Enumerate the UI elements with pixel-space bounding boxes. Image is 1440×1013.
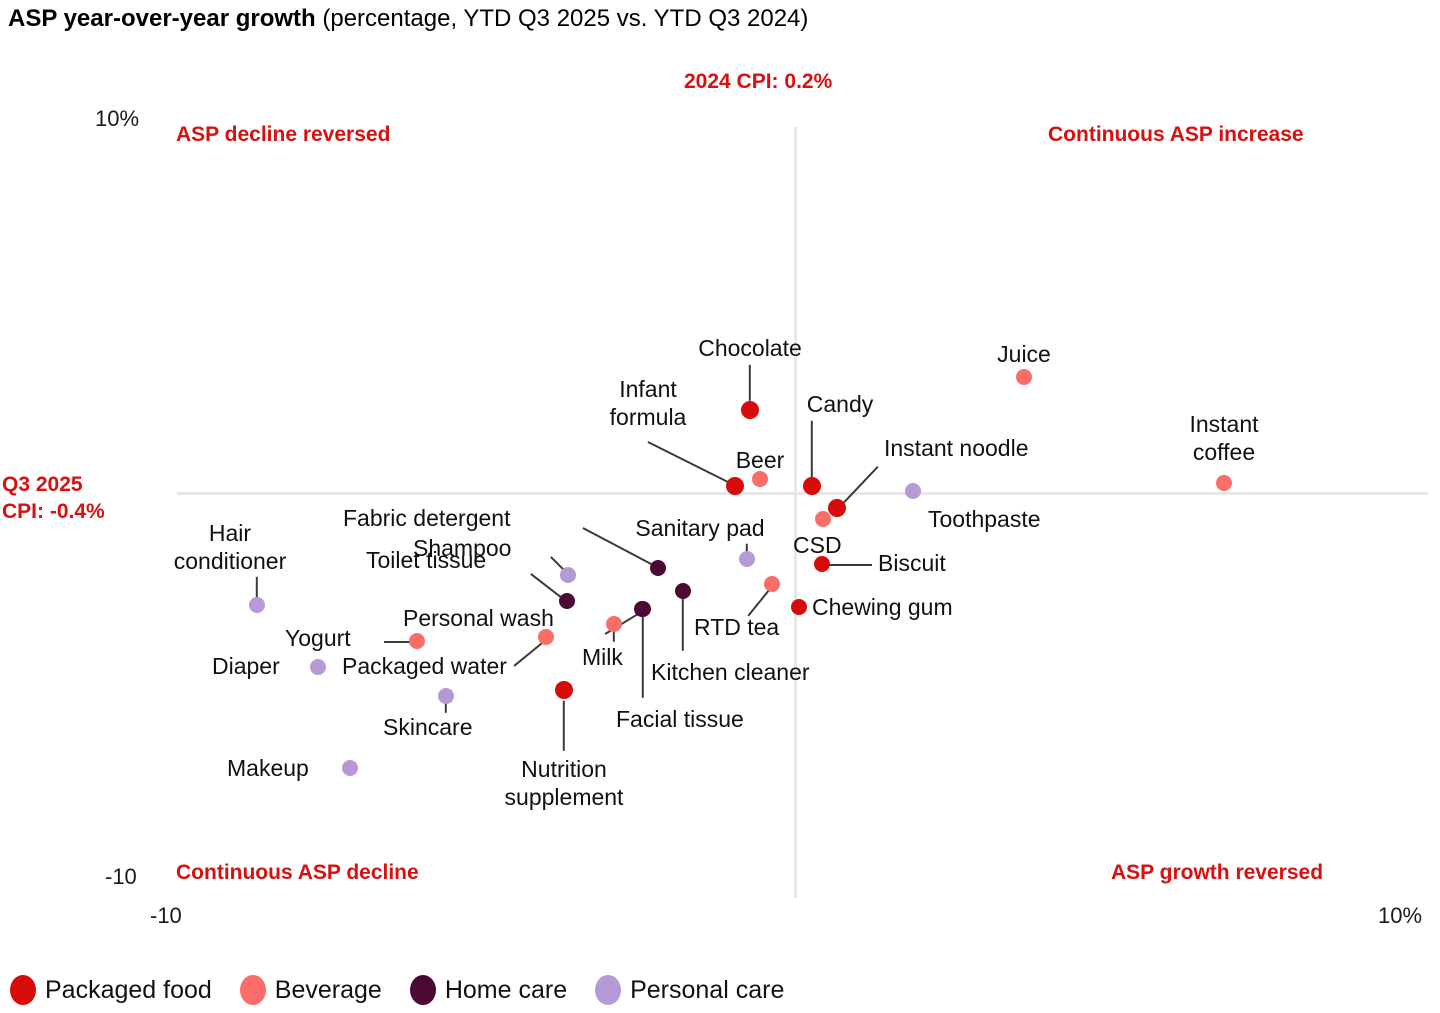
data-point-facial-tissue[interactable] bbox=[635, 601, 651, 617]
leader-line-infant-formula bbox=[648, 441, 731, 483]
x-axis-tick-left: -10 bbox=[150, 903, 182, 929]
data-label-instant-coffee: Instantcoffee bbox=[1189, 410, 1258, 466]
y-axis-tick-bottom: -10 bbox=[105, 864, 137, 890]
data-label-facial-tissue: Facial tissue bbox=[616, 705, 744, 733]
legend-swatch-home-icon bbox=[410, 975, 436, 1005]
data-point-rtd-tea[interactable] bbox=[764, 576, 780, 592]
data-label-csd: CSD bbox=[793, 531, 842, 559]
data-point-instant-noodle[interactable] bbox=[828, 499, 846, 517]
data-point-kitchen-cleaner[interactable] bbox=[675, 583, 691, 599]
data-point-chocolate[interactable] bbox=[741, 401, 759, 419]
leader-line-facial-tissue bbox=[642, 616, 644, 698]
data-point-candy[interactable] bbox=[803, 477, 821, 495]
leader-line-instant-noodle bbox=[841, 466, 878, 505]
legend-swatch-bev-icon bbox=[240, 975, 266, 1005]
data-point-biscuit[interactable] bbox=[814, 556, 830, 572]
y-axis-tick-top: 10% bbox=[95, 106, 139, 132]
legend-label-food: Packaged food bbox=[45, 976, 212, 1005]
legend-item-pers[interactable]: Personal care bbox=[595, 975, 784, 1005]
data-point-toilet-tissue[interactable] bbox=[559, 593, 575, 609]
data-point-hair-conditioner[interactable] bbox=[249, 597, 265, 613]
data-label-toilet-tissue: Toilet tissue bbox=[366, 546, 486, 574]
quadrant-label-bottom-left: Continuous ASP decline bbox=[176, 861, 419, 885]
data-label-hair-conditioner: Hairconditioner bbox=[174, 519, 287, 575]
data-label-personal-wash: Personal wash bbox=[403, 604, 554, 632]
data-point-packaged-water[interactable] bbox=[538, 629, 554, 645]
legend-swatch-pers-icon bbox=[595, 975, 621, 1005]
leader-line-nutrition-supplement bbox=[563, 701, 565, 751]
vertical-axis-line bbox=[794, 127, 797, 898]
leader-line-chocolate bbox=[749, 365, 751, 401]
data-label-fabric-detergent: Fabric detergent bbox=[343, 504, 510, 532]
data-point-juice[interactable] bbox=[1016, 369, 1032, 385]
cpi-q3-2025-line1: Q3 2025 bbox=[2, 471, 105, 498]
data-label-candy: Candy bbox=[807, 390, 873, 418]
data-point-makeup[interactable] bbox=[342, 760, 358, 776]
legend-item-bev[interactable]: Beverage bbox=[240, 975, 382, 1005]
data-point-yogurt[interactable] bbox=[409, 633, 425, 649]
data-point-milk[interactable] bbox=[606, 616, 622, 632]
data-label-nutrition-supplement: Nutritionsupplement bbox=[505, 755, 624, 811]
data-point-toothpaste[interactable] bbox=[905, 483, 921, 499]
leader-line-packaged-water bbox=[513, 642, 542, 666]
data-label-instant-noodle: Instant noodle bbox=[884, 434, 1029, 462]
data-point-sanitary-pad[interactable] bbox=[739, 551, 755, 567]
quadrant-label-top-left: ASP decline reversed bbox=[176, 123, 390, 147]
data-label-diaper: Diaper bbox=[212, 652, 280, 680]
page-title: ASP year-over-year growth (percentage, Y… bbox=[8, 4, 808, 34]
data-label-chewing-gum: Chewing gum bbox=[812, 593, 953, 621]
quadrant-label-bottom-right: ASP growth reversed bbox=[1111, 861, 1323, 885]
data-point-fabric-detergent[interactable] bbox=[650, 560, 666, 576]
legend-item-food[interactable]: Packaged food bbox=[10, 975, 212, 1005]
leader-line-biscuit bbox=[828, 564, 872, 566]
data-label-sanitary-pad: Sanitary pad bbox=[635, 514, 764, 542]
title-main: ASP year-over-year growth bbox=[8, 5, 316, 32]
data-label-milk: Milk bbox=[582, 643, 623, 671]
cpi-2024-annotation: 2024 CPI: 0.2% bbox=[684, 70, 832, 94]
title-subtitle: (percentage, YTD Q3 2025 vs. YTD Q3 2024… bbox=[316, 5, 809, 32]
legend-item-home[interactable]: Home care bbox=[410, 975, 567, 1005]
leader-line-toilet-tissue bbox=[531, 573, 563, 598]
data-label-skincare: Skincare bbox=[383, 713, 472, 741]
data-point-instant-coffee[interactable] bbox=[1216, 475, 1232, 491]
leader-line-yogurt bbox=[384, 641, 412, 643]
legend-label-bev: Beverage bbox=[275, 976, 382, 1005]
data-point-diaper[interactable] bbox=[310, 659, 326, 675]
legend: Packaged foodBeverageHome carePersonal c… bbox=[10, 975, 812, 1005]
leader-line-kitchen-cleaner bbox=[682, 598, 684, 651]
leader-line-milk bbox=[613, 631, 615, 642]
data-label-rtd-tea: RTD tea bbox=[694, 613, 779, 641]
data-point-infant-formula[interactable] bbox=[726, 477, 744, 495]
data-point-shampoo[interactable] bbox=[560, 567, 576, 583]
leader-line-skincare bbox=[445, 703, 447, 713]
data-point-nutrition-supplement[interactable] bbox=[555, 681, 573, 699]
cpi-q3-2025-annotation: Q3 2025 CPI: -0.4% bbox=[2, 471, 105, 525]
data-label-toothpaste: Toothpaste bbox=[928, 505, 1041, 533]
legend-label-pers: Personal care bbox=[630, 976, 784, 1005]
data-label-infant-formula: Infantformula bbox=[610, 375, 687, 431]
leader-line-candy bbox=[811, 421, 813, 478]
horizontal-axis-line bbox=[177, 492, 1428, 495]
scatter-chart: ASP year-over-year growth (percentage, Y… bbox=[0, 0, 1440, 1013]
data-point-chewing-gum[interactable] bbox=[791, 599, 807, 615]
cpi-q3-2025-line2: CPI: -0.4% bbox=[2, 498, 105, 525]
data-label-chocolate: Chocolate bbox=[698, 334, 802, 362]
x-axis-tick-right: 10% bbox=[1378, 903, 1422, 929]
quadrant-label-top-right: Continuous ASP increase bbox=[1048, 123, 1304, 147]
data-label-kitchen-cleaner: Kitchen cleaner bbox=[651, 658, 810, 686]
data-label-beer: Beer bbox=[736, 446, 785, 474]
data-point-csd[interactable] bbox=[815, 511, 831, 527]
data-label-biscuit: Biscuit bbox=[878, 549, 946, 577]
data-label-makeup: Makeup bbox=[227, 754, 309, 782]
legend-swatch-food-icon bbox=[10, 975, 36, 1005]
legend-label-home: Home care bbox=[445, 976, 567, 1005]
data-label-yogurt: Yogurt bbox=[285, 624, 351, 652]
data-label-packaged-water: Packaged water bbox=[342, 652, 507, 680]
data-label-juice: Juice bbox=[997, 340, 1051, 368]
data-point-skincare[interactable] bbox=[438, 688, 454, 704]
